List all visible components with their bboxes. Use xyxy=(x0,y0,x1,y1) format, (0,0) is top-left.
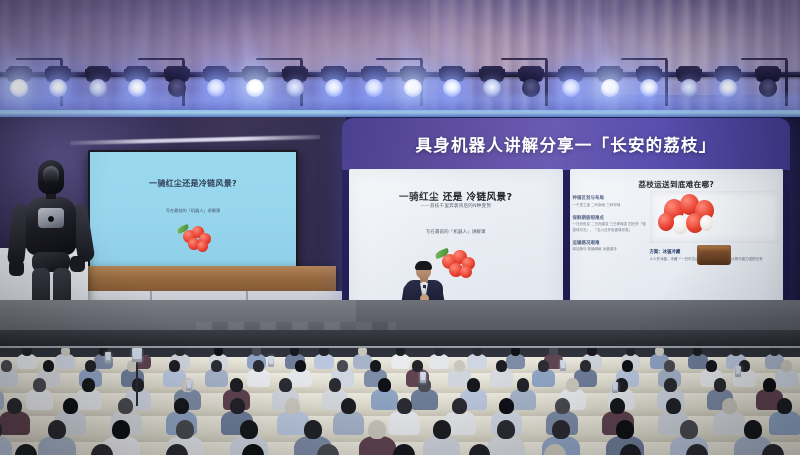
info-block-heading: 运输路况艰难 xyxy=(573,240,647,246)
audience-phone xyxy=(560,360,566,371)
light-lens xyxy=(49,79,67,97)
audience-member-body xyxy=(0,411,30,435)
tripod-camera xyxy=(132,348,142,362)
stage-light-fixture xyxy=(400,66,426,100)
stage-light-fixture xyxy=(321,66,347,100)
slide-right-text-column: 种植区划与布局 一千里之遥 二岭南地 三岭甲地 保鲜期极短难点 一日而色变 二日… xyxy=(573,195,647,260)
audience-member-head xyxy=(722,398,737,414)
audience-member-head xyxy=(396,348,405,356)
lychee-photo xyxy=(650,191,780,243)
audience-member-head xyxy=(714,378,727,392)
stage-light-fixture xyxy=(164,66,190,100)
audience-member-head xyxy=(664,360,675,372)
audience-member-head xyxy=(112,420,130,439)
audience-member-head xyxy=(412,360,423,372)
audience-member-head xyxy=(587,348,596,356)
audience-member-body xyxy=(388,411,420,435)
audience-member-head xyxy=(132,378,145,392)
light-lens xyxy=(325,79,343,97)
info-block: 种植区划与布局 一千里之遥 二岭南地 三岭甲地 xyxy=(573,195,647,208)
stage-monitor-title: 一骑红尘还是冷链风景? xyxy=(90,178,296,189)
stage-light-fixture xyxy=(124,66,150,100)
stage-light-fixture xyxy=(558,66,584,100)
light-lens xyxy=(365,79,383,97)
audience-member-body xyxy=(713,411,745,435)
audience-member-head xyxy=(253,360,264,372)
stage-light-fixture xyxy=(755,66,781,100)
audience-member-body xyxy=(0,369,18,386)
audience-member-body xyxy=(467,354,487,369)
audience-member-head xyxy=(7,398,22,414)
audience-member-head xyxy=(706,360,717,372)
audience-member-head xyxy=(626,348,635,356)
audience-member-head xyxy=(169,360,180,372)
audience-phone xyxy=(612,382,618,393)
presenter-hair xyxy=(415,261,432,270)
audience-member-head xyxy=(454,360,465,372)
audience-member-head xyxy=(341,398,356,414)
audience-member-head xyxy=(329,378,342,392)
audience-member-head xyxy=(118,398,133,414)
light-lens xyxy=(286,79,304,97)
audience-member-head xyxy=(467,378,480,392)
robot-left-hand xyxy=(9,260,24,276)
audience-member-head xyxy=(85,360,96,372)
robot-visor xyxy=(43,166,59,184)
audience-member-body xyxy=(333,411,365,435)
audience-member-body xyxy=(769,411,800,435)
audience-member-head xyxy=(82,378,95,392)
audience-member-head xyxy=(230,378,243,392)
audience-member-head xyxy=(211,360,222,372)
audience-phone xyxy=(186,380,192,391)
light-lens xyxy=(128,79,146,97)
audience-member-body xyxy=(429,354,449,369)
audience-member-head xyxy=(744,420,762,439)
stage-light-fixture xyxy=(518,66,544,100)
audience-member-head xyxy=(279,378,292,392)
audience-member-head xyxy=(176,420,194,439)
stage-light-fixture xyxy=(242,66,268,100)
light-lens xyxy=(10,79,28,97)
light-lens xyxy=(719,79,737,97)
audience-member-head xyxy=(358,348,367,356)
light-lens xyxy=(168,79,186,97)
audience-phone xyxy=(268,356,274,367)
audience-member-body xyxy=(411,389,438,409)
audience-member-head xyxy=(610,398,625,414)
audience-member-head xyxy=(230,398,245,414)
audience-member-head xyxy=(777,398,792,414)
stage-light-fixture xyxy=(361,66,387,100)
audience-member-head xyxy=(337,360,348,372)
audience-member-head xyxy=(622,360,633,372)
stage-monitor-lychee-image xyxy=(173,222,213,252)
audience-member-head xyxy=(655,348,664,356)
light-lens xyxy=(246,79,264,97)
audience-phone xyxy=(420,372,426,383)
audience-member-body xyxy=(371,389,398,409)
stage-monitor-note: 写在最前的「机器人」讲解课 xyxy=(90,208,296,214)
audience-member-head xyxy=(770,348,779,356)
wooden-crate-image xyxy=(697,245,731,265)
audience-member-head xyxy=(175,348,184,356)
light-lens xyxy=(443,79,461,97)
audience-member-head xyxy=(580,360,591,372)
audience-member-head xyxy=(781,360,792,372)
stage-light-fixture xyxy=(203,66,229,100)
audience-member-body xyxy=(688,354,708,369)
audience-member-body xyxy=(353,354,373,369)
slide-left-subtitle: ——荔枝千里奔袭背后的N种变势 xyxy=(349,203,563,209)
info-block-body: 驿站换马 驿道崎岖 冰鉴保冷 xyxy=(573,247,647,252)
audience-member-body xyxy=(289,369,312,386)
stage-light-fixture xyxy=(282,66,308,100)
stage-light-fixture xyxy=(636,66,662,100)
info-block-body: 一千里之遥 二岭南地 三岭甲地 xyxy=(573,203,647,208)
audience-member-head xyxy=(397,398,412,414)
stage-light-fixture xyxy=(479,66,505,100)
light-lens xyxy=(404,79,422,97)
info-block: 保鲜期极短难点 一日而色变 二日而香变 三日而味变 四日外「色香味尽去」，「五六… xyxy=(573,215,647,233)
audience-member-head xyxy=(295,360,306,372)
stage-light-fixture xyxy=(6,66,32,100)
audience-phone xyxy=(105,352,111,363)
robot-chest-sensor xyxy=(48,216,54,222)
info-block-heading: 保鲜期极短难点 xyxy=(573,215,647,221)
light-lens xyxy=(680,79,698,97)
slide-left-note: 写在最前的「机器人」讲解课 xyxy=(349,229,563,235)
audience-member-body xyxy=(17,354,37,369)
info-block-heading: 种植区划与布局 xyxy=(573,195,647,201)
audience-member-head xyxy=(33,378,46,392)
audience-member-head xyxy=(304,420,322,439)
audience-member-head xyxy=(214,348,223,356)
audience-member-head xyxy=(517,378,530,392)
audience-member-head xyxy=(43,360,54,372)
audience-member-head xyxy=(240,420,258,439)
audience-member-head xyxy=(680,420,698,439)
stage-light-fixture xyxy=(45,66,71,100)
conference-stage-photo: 一骑红尘还是冷链风景? 写在最前的「机器人」讲解课 xyxy=(0,0,800,455)
audience-member-body xyxy=(205,369,228,386)
light-lens xyxy=(89,79,107,97)
light-lens xyxy=(640,79,658,97)
audience-member-head xyxy=(252,348,261,356)
audience-member-head xyxy=(48,420,66,439)
audience-member-head xyxy=(555,398,570,414)
audience-member-head xyxy=(63,398,78,414)
stage-monitor-frame: 一骑红尘还是冷链风景? 写在最前的「机器人」讲解课 xyxy=(88,150,298,268)
audience-member-head xyxy=(763,378,776,392)
audience-member-head xyxy=(549,348,558,356)
audience-member-head xyxy=(1,360,12,372)
audience-member-head xyxy=(61,348,70,356)
audience-member-body xyxy=(775,369,798,386)
audience-member-body xyxy=(506,354,526,369)
audience-member-head xyxy=(616,420,634,439)
info-block: 运输路况艰难 驿站换马 驿道崎岖 冰鉴保冷 xyxy=(573,240,647,253)
audience-member-body xyxy=(532,369,555,386)
slide-header-text: 具身机器人讲解分享一「长安的荔枝」 xyxy=(416,132,717,156)
stage-light-fixture xyxy=(676,66,702,100)
audience-member-body xyxy=(26,389,53,409)
audience-member-head xyxy=(433,420,451,439)
stage-light-fixture xyxy=(715,66,741,100)
audience-member-body xyxy=(75,389,102,409)
audience-member-head xyxy=(285,398,300,414)
audience-member-head xyxy=(434,348,443,356)
slide-left-title: 一骑红尘 还是 冷链风景? xyxy=(349,189,563,203)
audience-member-head xyxy=(368,420,386,439)
light-lens xyxy=(759,79,777,97)
audience-member-head xyxy=(566,378,579,392)
audience-member-head xyxy=(664,378,677,392)
light-lens xyxy=(562,79,580,97)
light-lens xyxy=(207,79,225,97)
audience-member-head xyxy=(378,378,391,392)
audience-member-head xyxy=(731,348,740,356)
audience-member-body xyxy=(314,354,334,369)
stage-monitor-screen: 一骑红尘还是冷链风景? 写在最前的「机器人」讲解课 xyxy=(90,152,296,266)
audience-member-head xyxy=(370,360,381,372)
audience-member-head xyxy=(497,420,515,439)
camera-tripod xyxy=(136,358,138,406)
light-lens xyxy=(601,79,619,97)
audience-member-head xyxy=(666,398,681,414)
stage-light-fixture xyxy=(597,66,623,100)
audience-member-head xyxy=(174,398,189,414)
slide-right-title: 荔枝运送到底难在哪? xyxy=(570,179,784,190)
stage-light-fixture xyxy=(439,66,465,100)
slide-right-media-column: 方案：冰鉴冷藏 人人开冰鉴，冷藏「一日可达法 以低温延缓腐坏，再以快马接力送抵长… xyxy=(650,191,780,262)
audience-member-body xyxy=(490,369,513,386)
audience-member-head xyxy=(538,360,549,372)
audience-member-body xyxy=(391,354,411,369)
audience-member-head xyxy=(552,420,570,439)
audience-member-body xyxy=(247,369,270,386)
audience-member-head xyxy=(452,398,467,414)
robot-right-hand xyxy=(70,256,85,272)
audience-seating xyxy=(0,348,800,455)
info-block-body: 一日而色变 二日而香变 三日而味变 四日外「色香味尽去」，「五六日外色香味尽变」 xyxy=(573,222,647,233)
stage-light-fixture xyxy=(85,66,111,100)
audience-member-head xyxy=(473,348,482,356)
audience-phone xyxy=(735,366,741,377)
audience-member-head xyxy=(496,360,507,372)
light-lens xyxy=(522,79,540,97)
audience-member-head xyxy=(22,348,31,356)
audience-member-head xyxy=(511,348,520,356)
light-lens xyxy=(483,79,501,97)
audience-member-head xyxy=(499,398,514,414)
slide-header-banner: 具身机器人讲解分享一「长安的荔枝」 xyxy=(342,118,790,170)
audience-member-head xyxy=(319,348,328,356)
audience-member-body xyxy=(55,354,75,369)
